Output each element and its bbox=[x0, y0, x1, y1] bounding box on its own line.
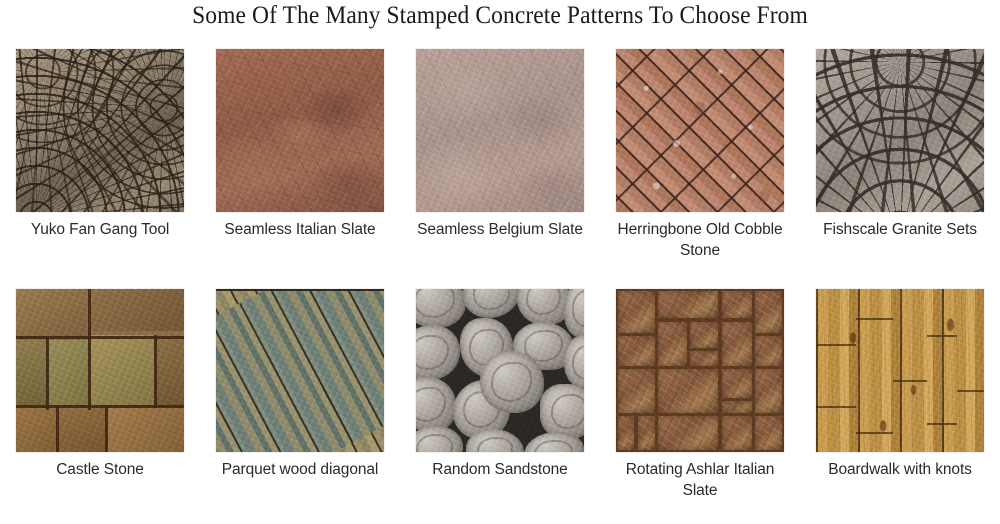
pattern-thumbnail-frame bbox=[15, 48, 185, 213]
pattern-card-boardwalk-with-knots[interactable]: Boardwalk with knots bbox=[800, 284, 1000, 524]
pattern-card-herringbone-old-cobble-stone[interactable]: Herringbone Old Cobble Stone bbox=[600, 44, 800, 284]
pattern-label: Boardwalk with knots bbox=[808, 459, 993, 480]
pattern-label: Seamless Italian Slate bbox=[208, 219, 393, 240]
pattern-thumbnail-frame bbox=[615, 288, 785, 453]
pattern-label: Castle Stone bbox=[8, 459, 193, 480]
pattern-label: Rotating Ashlar Italian Slate bbox=[608, 459, 793, 501]
pattern-label: Random Sandstone bbox=[408, 459, 593, 480]
pattern-card-seamless-belgium-slate[interactable]: Seamless Belgium Slate bbox=[400, 44, 600, 284]
pattern-thumbnail-frame bbox=[215, 288, 385, 453]
pattern-card-castle-stone[interactable]: Castle Stone bbox=[0, 284, 200, 524]
pattern-row-1: Yuko Fan Gang Tool Seamless Italian Slat… bbox=[0, 44, 1000, 284]
pattern-card-random-sandstone[interactable]: Random Sandstone bbox=[400, 284, 600, 524]
pattern-card-yuko-fan-gang-tool[interactable]: Yuko Fan Gang Tool bbox=[0, 44, 200, 284]
pattern-thumbnail-frame bbox=[15, 288, 185, 453]
italian-slate-swatch[interactable] bbox=[216, 49, 384, 212]
belgium-slate-swatch[interactable] bbox=[416, 49, 584, 212]
pattern-card-parquet-wood-diagonal[interactable]: Parquet wood diagonal bbox=[200, 284, 400, 524]
fan-gang-cobble-swatch[interactable] bbox=[16, 49, 184, 212]
boardwalk-knots-swatch[interactable] bbox=[816, 289, 984, 452]
pattern-row-2: Castle Stone Parquet wood diagonal bbox=[0, 284, 1000, 524]
pattern-thumbnail-frame bbox=[415, 48, 585, 213]
pattern-label: Seamless Belgium Slate bbox=[408, 219, 593, 240]
herringbone-cobble-swatch[interactable] bbox=[616, 49, 784, 212]
pattern-thumbnail-frame bbox=[815, 48, 985, 213]
plank-end-joint-layer bbox=[816, 289, 984, 452]
pattern-label: Yuko Fan Gang Tool bbox=[8, 219, 193, 240]
pattern-grid: Yuko Fan Gang Tool Seamless Italian Slat… bbox=[0, 44, 1000, 524]
brick-speckle-layer bbox=[616, 49, 784, 212]
parquet-joint bbox=[216, 289, 384, 291]
pattern-card-rotating-ashlar-italian-slate[interactable]: Rotating Ashlar Italian Slate bbox=[600, 284, 800, 524]
pattern-label: Fishscale Granite Sets bbox=[808, 219, 993, 240]
pattern-thumbnail-frame bbox=[615, 48, 785, 213]
pattern-thumbnail-frame bbox=[415, 288, 585, 453]
fishscale-granite-swatch[interactable] bbox=[816, 49, 984, 212]
rotating-ashlar-slate-swatch[interactable] bbox=[616, 289, 784, 452]
pattern-label: Herringbone Old Cobble Stone bbox=[608, 219, 793, 261]
stamped-concrete-pattern-board: Some Of The Many Stamped Concrete Patter… bbox=[0, 0, 1000, 507]
pattern-thumbnail-frame bbox=[815, 288, 985, 453]
pattern-thumbnail-frame bbox=[215, 48, 385, 213]
parquet-wood-diagonal-swatch[interactable] bbox=[216, 289, 384, 452]
pattern-card-fishscale-granite-sets[interactable]: Fishscale Granite Sets bbox=[800, 44, 1000, 284]
parquet-diamond-planks bbox=[216, 289, 384, 452]
castle-stone-swatch[interactable] bbox=[16, 289, 184, 452]
random-sandstone-swatch[interactable] bbox=[416, 289, 584, 452]
page-title: Some Of The Many Stamped Concrete Patter… bbox=[30, 2, 970, 30]
flagstone-joint-layer bbox=[16, 289, 184, 452]
pattern-card-seamless-italian-slate[interactable]: Seamless Italian Slate bbox=[200, 44, 400, 284]
pattern-label: Parquet wood diagonal bbox=[208, 459, 393, 480]
